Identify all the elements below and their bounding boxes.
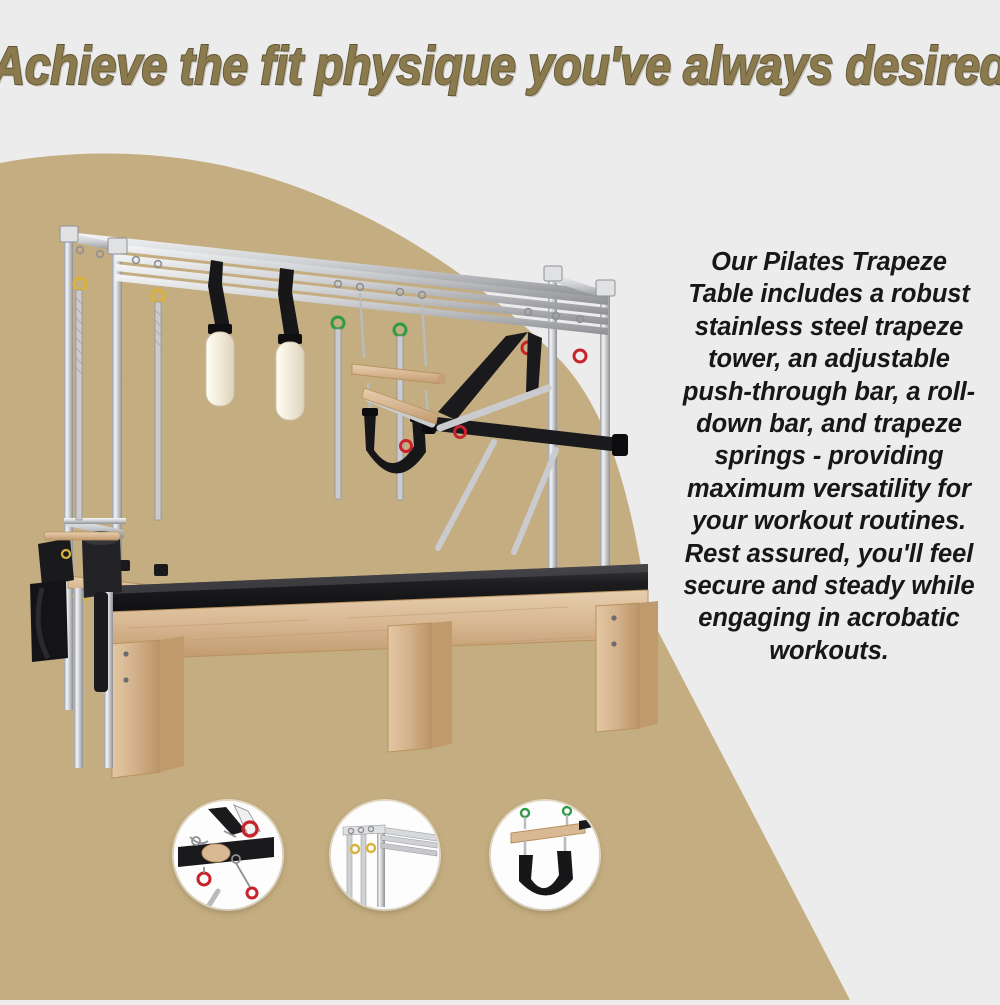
thumb-trapeze-bar-art (491, 801, 599, 909)
thumb-push-through-bar-art (174, 801, 282, 909)
thumb-push-through-bar[interactable] (174, 801, 282, 909)
thumb-tower-frame-art (331, 801, 439, 909)
detail-thumbnail-strip (0, 0, 1000, 1000)
thumb-trapeze-bar[interactable] (491, 801, 599, 909)
product-marketing-banner: Achieve the fit physique you've always d… (0, 0, 1000, 1000)
thumb-tower-frame[interactable] (331, 801, 439, 909)
